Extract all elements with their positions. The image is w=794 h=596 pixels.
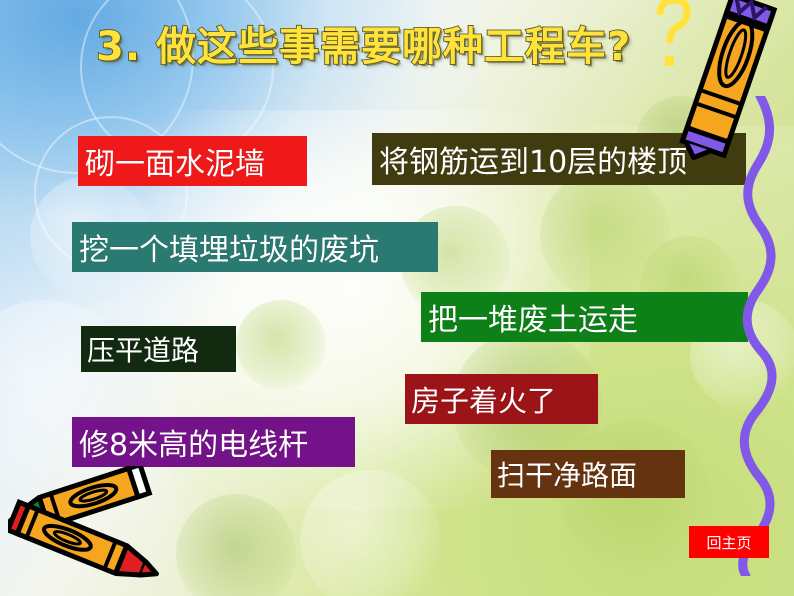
page-title: 3. 做这些事需要哪种工程车? bbox=[96, 24, 706, 70]
task-sweep-road-clean[interactable]: 扫干净路面 bbox=[491, 450, 685, 498]
task-rebar-to-10th-floor[interactable]: 将钢筋运到10层的楼顶 bbox=[372, 133, 746, 185]
task-fix-8m-utility-pole[interactable]: 修8米高的电线杆 bbox=[72, 417, 355, 467]
task-dig-landfill-pit[interactable]: 挖一个填埋垃圾的废坑 bbox=[72, 222, 438, 272]
task-flatten-road[interactable]: 压平道路 bbox=[81, 326, 236, 372]
home-button[interactable]: 回主页 bbox=[689, 526, 769, 558]
task-haul-waste-soil[interactable]: 把一堆废土运走 bbox=[421, 292, 748, 342]
task-house-on-fire[interactable]: 房子着火了 bbox=[405, 374, 598, 424]
task-brick-wall[interactable]: 砌一面水泥墙 bbox=[78, 136, 307, 186]
presentation-slide: 3. 做这些事需要哪种工程车? 砌一面水泥墙将钢筋运到10层的楼顶挖一个填埋垃圾… bbox=[0, 0, 794, 596]
